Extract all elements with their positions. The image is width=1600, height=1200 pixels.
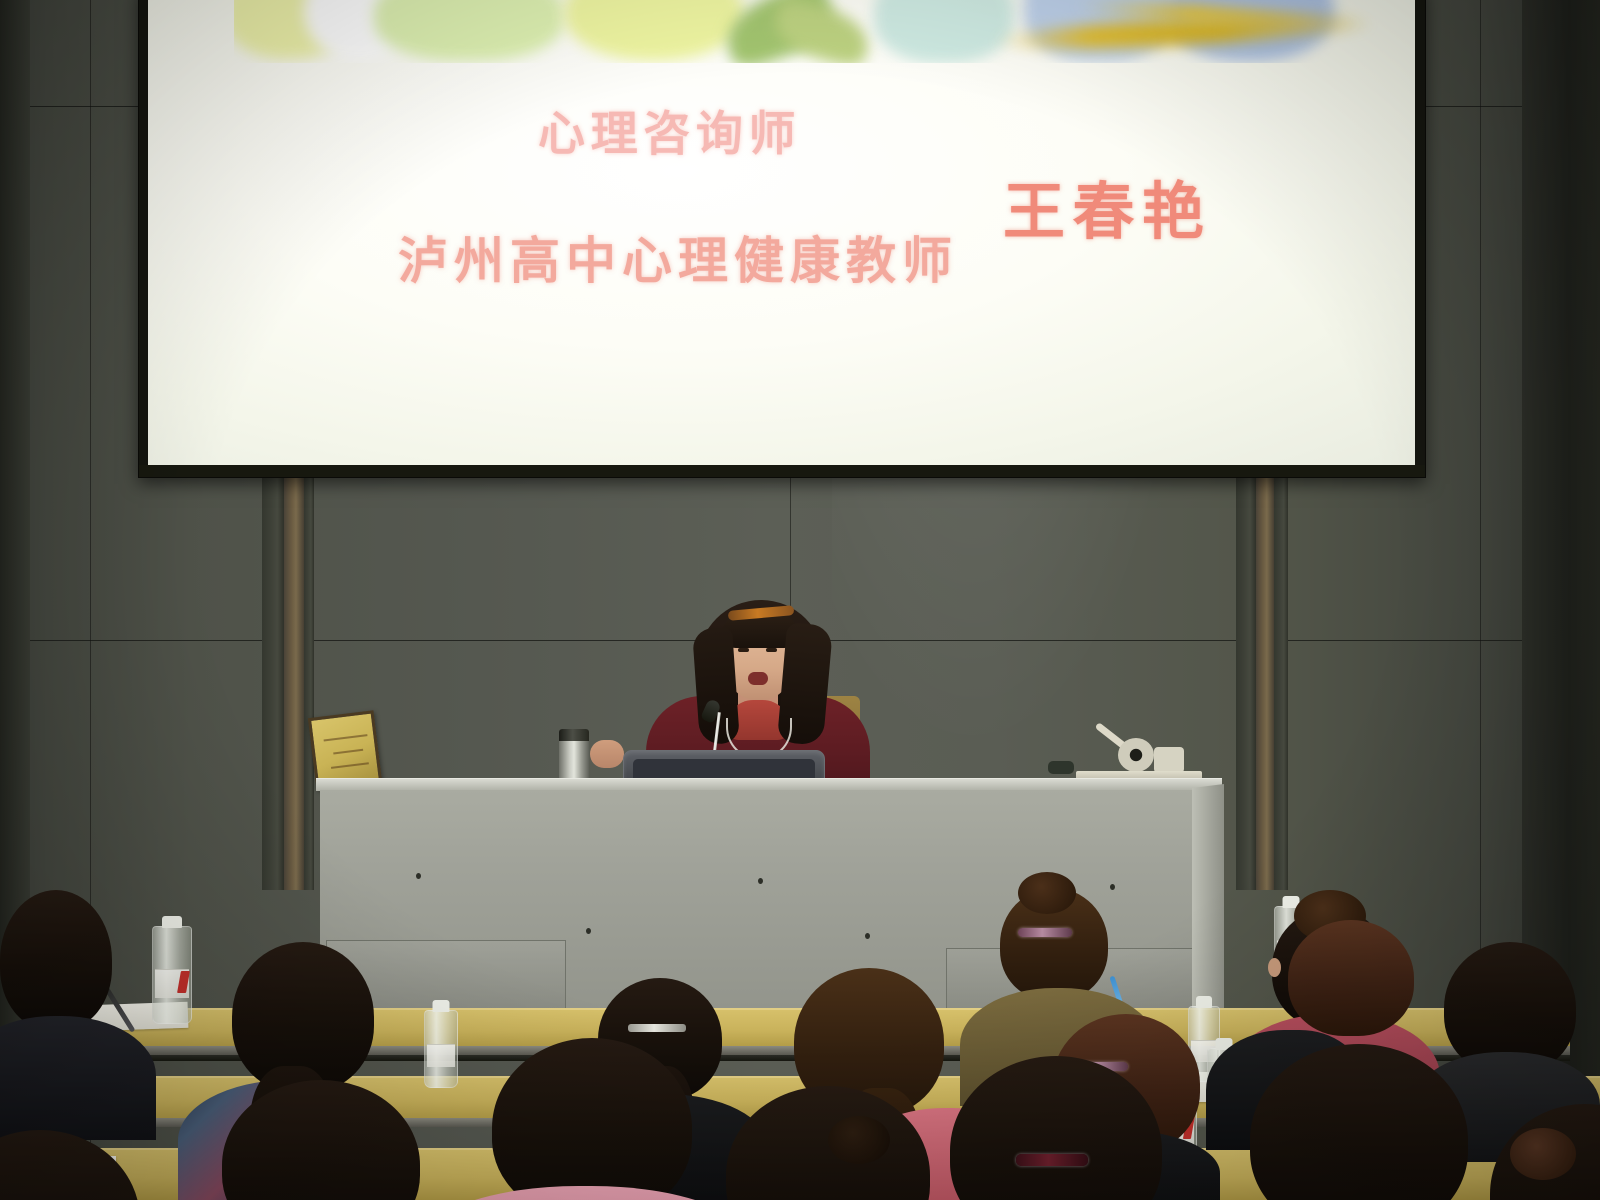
wall-pillar-right — [1236, 470, 1256, 890]
wall-mullion-bronze-right — [1256, 470, 1274, 890]
audience-hair-bun — [828, 1116, 890, 1164]
projection-screen-frame: 心理咨询师 王春艳 泸州高中心理健康教师 — [138, 0, 1426, 478]
band-blob-teal — [874, 0, 1014, 63]
wall-pillar-left-inner — [304, 470, 314, 890]
bottle-cap — [1196, 996, 1212, 1008]
lecture-hall-photo: 心理咨询师 王春艳 泸州高中心理健康教师 — [0, 0, 1600, 1200]
slide-title-counselor: 心理咨询师 — [538, 95, 801, 164]
presenter-eye-left — [738, 648, 749, 652]
water-bottle — [424, 1010, 458, 1088]
water-bottle — [152, 926, 192, 1024]
wall-mullion-bronze-left — [284, 470, 304, 890]
slide-affiliation: 泸州高中心理健康教师 — [398, 221, 958, 293]
band-blob-green — [374, 0, 564, 61]
bottle-label — [427, 1044, 455, 1067]
wall-pillar-left — [262, 470, 284, 890]
thermos-cap — [559, 729, 589, 741]
presenter-eye-right — [766, 648, 777, 652]
slide-decorative-band — [234, 0, 1379, 63]
plaque-text-line — [333, 749, 363, 755]
audience-head — [1288, 920, 1414, 1036]
audience-area — [0, 880, 1600, 1200]
hair-clip-jeweled — [1018, 928, 1072, 937]
bottle-cap — [162, 916, 182, 928]
projection-screen-surface: 心理咨询师 王春艳 泸州高中心理健康教师 — [148, 0, 1415, 465]
equipment-dark-part — [1048, 761, 1074, 774]
equipment-disc — [1118, 738, 1154, 772]
projection-screen-bottom-bar — [139, 465, 1425, 477]
wall-pillar-right-inner — [1274, 470, 1288, 890]
plaque-text-line — [331, 762, 369, 769]
slide-presenter-name: 王春艳 — [1003, 161, 1211, 251]
hair-clip-silver — [628, 1024, 686, 1032]
presenter-mouth — [748, 672, 768, 685]
podium-bolt — [416, 873, 421, 879]
hair-tie-dark-red — [1016, 1154, 1088, 1166]
plaque-text-line — [324, 734, 368, 741]
audience-hair-bun — [1510, 1128, 1576, 1180]
audience-head — [0, 890, 112, 1030]
equipment-block — [1154, 747, 1184, 773]
audience-ear — [1268, 958, 1281, 977]
band-blob-lime — [564, 0, 744, 61]
presenter-hand — [590, 740, 624, 768]
bottle-cap — [433, 1000, 450, 1012]
audience-hair-bun — [1018, 872, 1076, 914]
audience-head — [0, 1130, 140, 1200]
